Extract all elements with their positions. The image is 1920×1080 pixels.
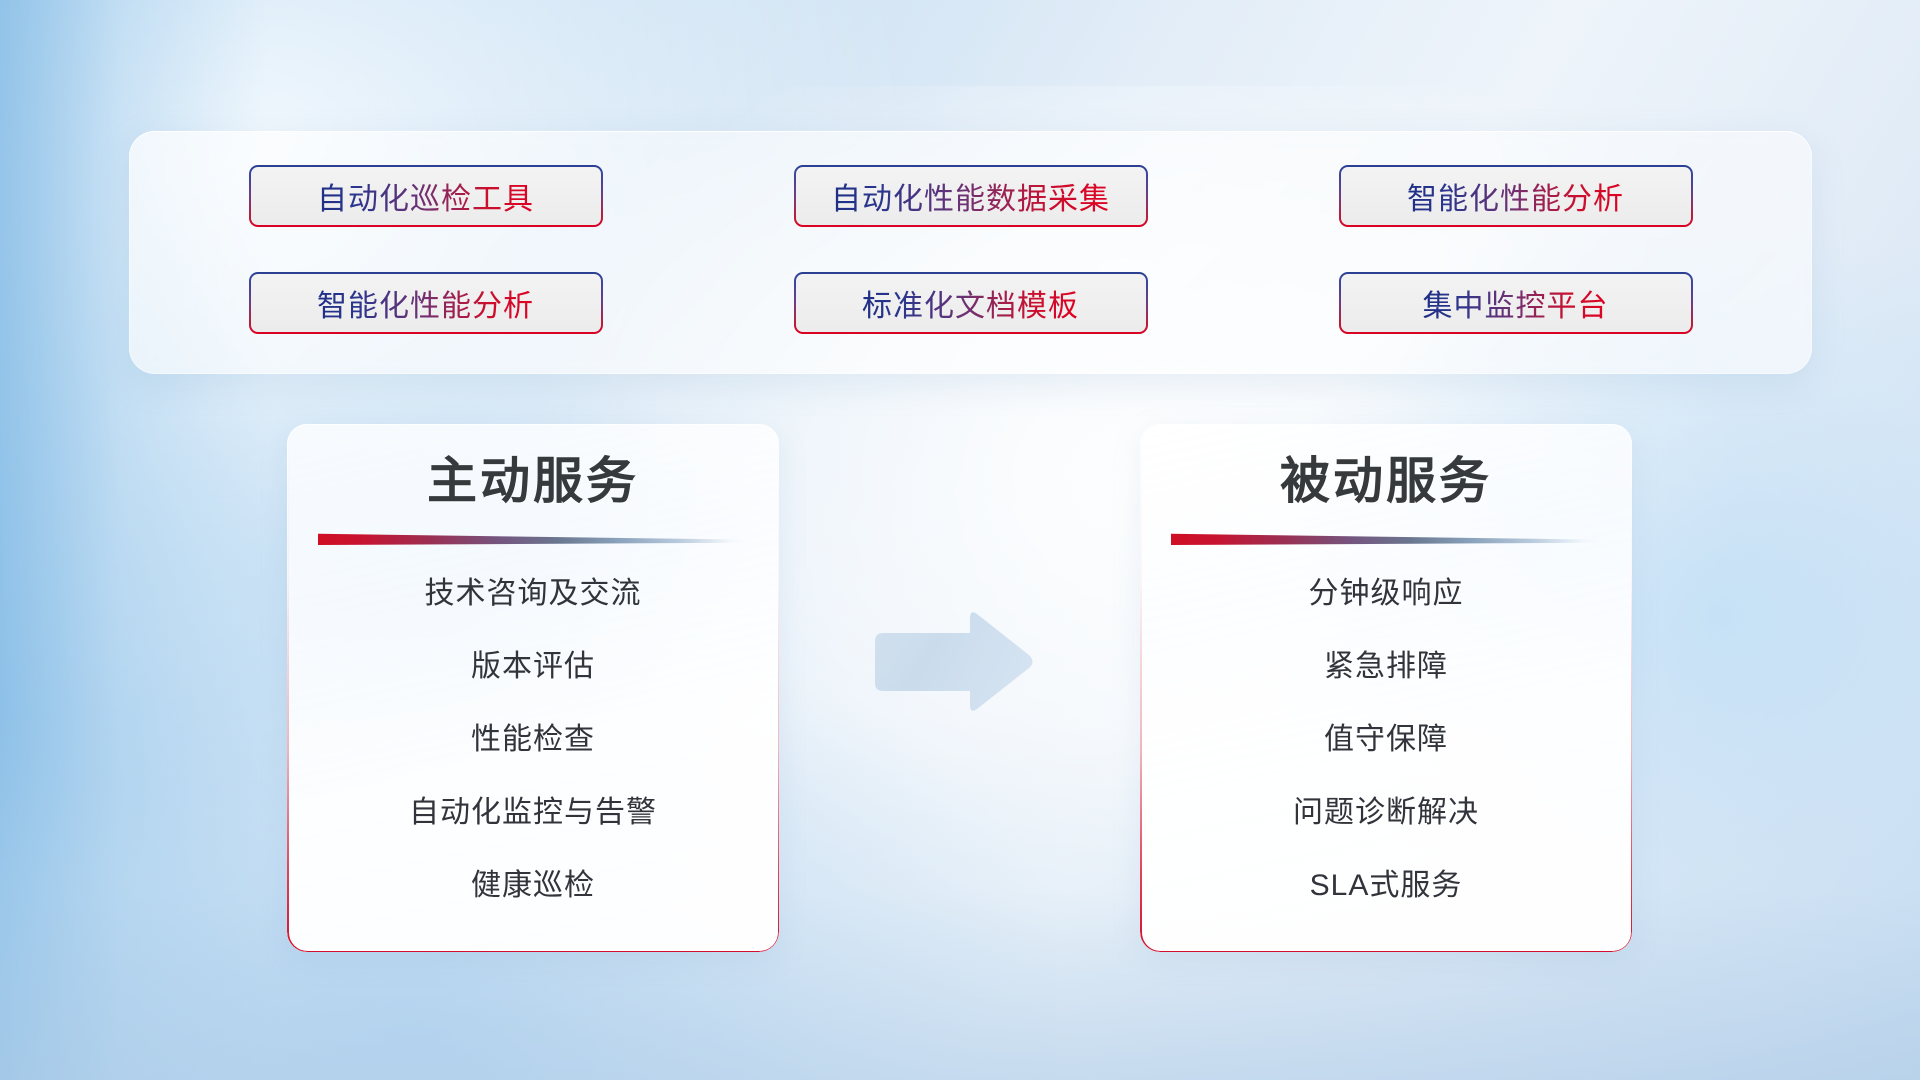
- capability-tag-label: 智能化性能分析: [317, 281, 534, 325]
- capability-tag-centralized-monitoring-platform[interactable]: 集中监控平台: [1339, 272, 1693, 334]
- capability-tag-surface: 智能化性能分析: [251, 274, 601, 332]
- capability-tag-label: 自动化性能数据采集: [831, 174, 1110, 218]
- capability-tags-grid: 自动化巡检工具 自动化性能数据采集 智能化性能分析 智能化性能分析 标准化文档模…: [129, 131, 1812, 374]
- capability-tag-label: 集中监控平台: [1423, 281, 1609, 325]
- capability-tag-surface: 标准化文档模板: [796, 274, 1146, 332]
- service-list-item: 健康巡检: [287, 871, 779, 901]
- service-list-item: 性能检查: [287, 725, 779, 755]
- service-list-item: 版本评估: [287, 652, 779, 682]
- service-card-item-list: 技术咨询及交流 版本评估 性能检查 自动化监控与告警 健康巡检: [287, 579, 779, 901]
- divider-wedge-shape: [1171, 531, 1601, 545]
- right-arrow-icon: [869, 607, 1036, 717]
- service-list-item: SLA式服务: [1140, 871, 1632, 901]
- service-card-item-list: 分钟级响应 紧急排障 值守保障 问题诊断解决 SLA式服务: [1140, 579, 1632, 901]
- service-list-item: 技术咨询及交流: [287, 579, 779, 609]
- capability-tag-automated-performance-data-collection[interactable]: 自动化性能数据采集: [794, 165, 1148, 227]
- service-list-item: 值守保障: [1140, 725, 1632, 755]
- service-card-active: 主动服务 技术咨询及交流 版本评估 性能检查 自动化监控与告警 健康巡检: [287, 424, 779, 952]
- capability-tag-surface: 集中监控平台: [1341, 274, 1691, 332]
- service-list-item: 紧急排障: [1140, 652, 1632, 682]
- capability-tag-surface: 智能化性能分析: [1341, 167, 1691, 225]
- service-card-passive: 被动服务 分钟级响应 紧急排障 值守保障 问题诊断解决 SLA式服务: [1140, 424, 1632, 952]
- service-list-item: 分钟级响应: [1140, 579, 1632, 609]
- capability-tag-automated-inspection-tool[interactable]: 自动化巡检工具: [249, 165, 603, 227]
- divider-wedge-shape: [318, 531, 748, 545]
- service-list-item: 自动化监控与告警: [287, 798, 779, 828]
- capability-tag-standardized-document-template[interactable]: 标准化文档模板: [794, 272, 1148, 334]
- capability-tags-panel: 自动化巡检工具 自动化性能数据采集 智能化性能分析 智能化性能分析 标准化文档模…: [129, 131, 1812, 374]
- capability-tag-intelligent-performance-analysis-top[interactable]: 智能化性能分析: [1339, 165, 1693, 227]
- capability-tag-surface: 自动化性能数据采集: [796, 167, 1146, 225]
- capability-tag-surface: 自动化巡检工具: [251, 167, 601, 225]
- service-card-title: 主动服务: [287, 454, 779, 509]
- service-card-title: 被动服务: [1140, 454, 1632, 509]
- capability-tag-label: 标准化文档模板: [862, 281, 1079, 325]
- capability-tag-intelligent-performance-analysis-bottom[interactable]: 智能化性能分析: [249, 272, 603, 334]
- capability-tag-label: 智能化性能分析: [1407, 174, 1624, 218]
- capability-tag-label: 自动化巡检工具: [317, 174, 534, 218]
- service-list-item: 问题诊断解决: [1140, 798, 1632, 828]
- service-card-divider: [1171, 531, 1601, 545]
- service-card-divider: [318, 531, 748, 545]
